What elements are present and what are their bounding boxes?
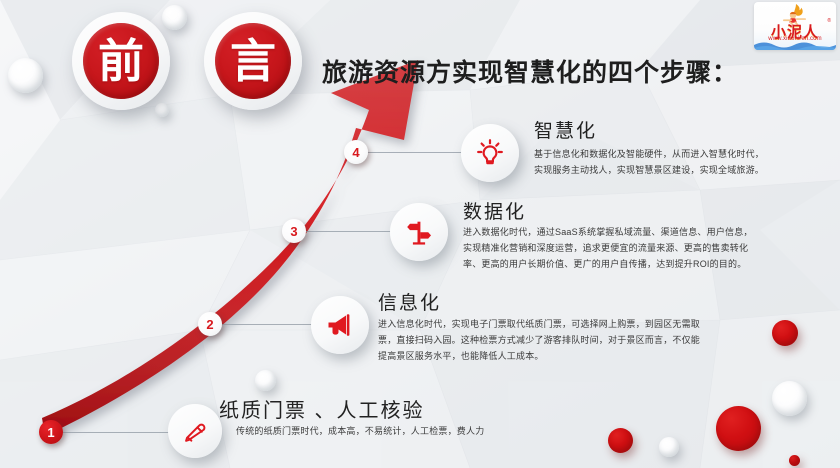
step-body-3-line-1: 进入数据化时代，通过SaaS系统掌握私域流量、渠道信息、用户信息， — [463, 224, 753, 240]
step-body-2-line-1: 进入信息化时代，实现电子门票取代纸质门票，可选择网上购票，到园区无需取 — [378, 316, 700, 332]
step-body-2-line-2: 票，直接扫码入园。这种检票方式减少了游客排队时间，对于景区而言，不仅能 — [378, 332, 700, 348]
step-body-1: 传统的纸质门票时代，成本高，不易统计，人工检票，费人力 — [236, 423, 484, 439]
signpost-icon — [404, 217, 434, 247]
step-heading-3: 数据化 — [463, 197, 526, 224]
step-number-4-label: 4 — [352, 146, 359, 159]
connector-line-2 — [218, 324, 314, 325]
step-number-1-label: 1 — [47, 426, 54, 439]
step-number-1[interactable]: 1 — [39, 420, 63, 444]
step-icon-circle-4[interactable] — [461, 124, 519, 182]
logo-trademark: ® — [827, 18, 831, 24]
pencil-icon — [180, 416, 210, 446]
step-body-4: 基于信息化和数据化及智能硬件，从而进入智慧化时代， 实现服务主动找人，实现智慧景… — [534, 146, 764, 178]
logo-wave-icon — [754, 38, 836, 50]
step-heading-1: 纸质门票 、人工核验 — [219, 394, 425, 423]
brand-logo[interactable]: 小泥人 ® www.xiaoniren.com — [754, 2, 836, 50]
megaphone-icon — [324, 309, 356, 341]
step-number-2[interactable]: 2 — [198, 312, 222, 336]
connector-line-3 — [302, 231, 394, 232]
step-heading-4: 智慧化 — [534, 116, 597, 143]
page-title: 旅游资源方实现智慧化的四个步骤： — [322, 53, 738, 89]
presentation-slide: 前 言 — [0, 0, 840, 468]
lightbulb-icon — [474, 137, 506, 169]
step-icon-circle-3[interactable] — [390, 203, 448, 261]
step-icon-circle-1[interactable] — [168, 404, 222, 458]
step-body-4-line-1: 基于信息化和数据化及智能硬件，从而进入智慧化时代， — [534, 146, 764, 162]
connector-line-1 — [60, 432, 172, 433]
step-heading-2: 信息化 — [378, 288, 441, 315]
step-body-2: 进入信息化时代，实现电子门票取代纸质门票，可选择网上购票，到园区无需取 票，直接… — [378, 316, 700, 364]
step-body-3: 进入数据化时代，通过SaaS系统掌握私域流量、渠道信息、用户信息， 实现精准化营… — [463, 224, 753, 272]
step-body-2-line-3: 提高景区服务水平，也能降低人工成本。 — [378, 348, 700, 364]
step-icon-circle-2[interactable] — [311, 296, 369, 354]
step-number-2-label: 2 — [206, 318, 213, 331]
step-number-3[interactable]: 3 — [282, 219, 306, 243]
connector-line-4 — [366, 152, 466, 153]
step-body-3-line-2: 实现精准化营销和深度运营，追求更便宜的流量来源、更高的售卖转化 — [463, 240, 753, 256]
step-body-4-line-2: 实现服务主动找人，实现智慧景区建设，实现全域旅游。 — [534, 162, 764, 178]
step-body-3-line-3: 率、更高的用户长期价值、更广的用户自传播，达到提升ROI的目的。 — [463, 256, 753, 272]
step-number-3-label: 3 — [290, 225, 297, 238]
step-body-1-line-1: 传统的纸质门票时代，成本高，不易统计，人工检票，费人力 — [236, 423, 484, 439]
step-number-4[interactable]: 4 — [344, 140, 368, 164]
